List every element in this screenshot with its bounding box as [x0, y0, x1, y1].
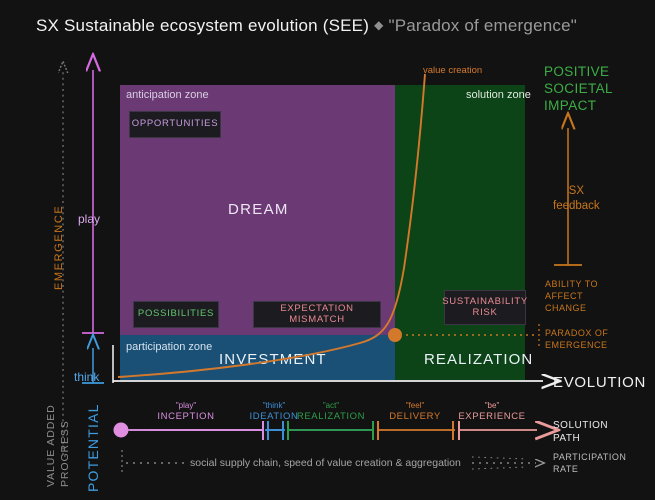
impact-line-1: POSITIVE — [544, 64, 613, 81]
tag-expectation-mismatch[interactable]: EXPECTATION MISMATCH — [253, 301, 381, 328]
page-title-main: SX Sustainable ecosystem evolution (SEE) — [36, 16, 369, 35]
paradox-line-1: PARADOX OF — [545, 327, 608, 339]
axis-segment-label-think: think — [74, 370, 99, 384]
realization-zone-title: REALIZATION — [424, 351, 533, 368]
tag-possibilities-label: POSSIBILITIES — [138, 309, 214, 320]
ability-line-2: AFFECT — [545, 290, 598, 302]
investment-zone-title: INVESTMENT — [219, 351, 327, 368]
participation-zone-caption: participation zone — [126, 341, 212, 353]
path-ideation-main — [270, 429, 283, 431]
play-emergence-axis-arrow — [82, 70, 104, 333]
tag-expectation-mismatch-label: EXPECTATION MISMATCH — [254, 304, 380, 326]
evolution-axis-label: EVOLUTION — [553, 374, 646, 391]
solution-path-line-2: PATH — [553, 432, 608, 445]
axis-label-potential: POTENTIAL — [85, 403, 101, 492]
path-label-experience-quote: "be" — [432, 401, 552, 411]
participation-rate-line-1: PARTICIPATION — [553, 451, 626, 463]
tag-opportunities[interactable]: OPPORTUNITIES — [129, 111, 221, 138]
axis-label-emergence: EMERGENCE — [53, 205, 65, 290]
ability-to-affect-change-label: ABILITY TO AFFECT CHANGE — [545, 278, 598, 314]
dream-zone-title: DREAM — [228, 201, 289, 218]
axis-label-value-added: VALUE ADDED — [45, 404, 57, 487]
ability-line-1: ABILITY TO — [545, 278, 598, 290]
path-label-experience[interactable]: "be" EXPERIENCE — [432, 401, 552, 423]
anticipation-zone-caption: anticipation zone — [126, 89, 209, 101]
diamond-icon: ◆ — [374, 18, 383, 32]
tag-opportunities-label: OPPORTUNITIES — [132, 119, 219, 130]
solution-zone-caption: solution zone — [466, 89, 531, 101]
sx-feedback-label: SX feedback — [553, 184, 600, 214]
participation-rate-label: PARTICIPATION RATE — [553, 451, 626, 475]
impact-line-3: IMPACT — [544, 98, 613, 115]
paradox-line-2: EMERGENCE — [545, 339, 608, 351]
tag-sustainability-risk-label: SUSTAINABILITY RISK — [442, 297, 527, 319]
value-creation-label: value creation — [423, 65, 482, 76]
tag-sustainability-risk[interactable]: SUSTAINABILITY RISK — [444, 290, 526, 325]
path-label-experience-name: EXPERIENCE — [432, 411, 552, 423]
sx-feedback-line-2: feedback — [553, 199, 600, 214]
solution-path-line-1: SOLUTION — [553, 419, 608, 432]
solution-path-axis — [114, 421, 538, 440]
sx-feedback-line-1: SX — [553, 184, 600, 199]
participation-rate-line-2: RATE — [553, 463, 626, 475]
axis-label-progress: PROGRESS — [59, 420, 71, 487]
solution-path-start-dot — [114, 423, 129, 438]
ability-line-3: CHANGE — [545, 302, 598, 314]
tag-possibilities[interactable]: POSSIBILITIES — [133, 301, 219, 328]
paradox-of-emergence-label: PARADOX OF EMERGENCE — [545, 327, 608, 351]
social-supply-chain-caption: social supply chain, speed of value crea… — [190, 457, 461, 469]
positive-societal-impact-label: POSITIVE SOCIETAL IMPACT — [544, 64, 613, 115]
impact-line-2: SOCIETAL — [544, 81, 613, 98]
solution-path-label: SOLUTION PATH — [553, 419, 608, 445]
page-title: SX Sustainable ecosystem evolution (SEE)… — [36, 16, 577, 36]
page-title-subtitle: "Paradox of emergence" — [389, 16, 577, 35]
axis-segment-label-play: play — [78, 212, 100, 226]
